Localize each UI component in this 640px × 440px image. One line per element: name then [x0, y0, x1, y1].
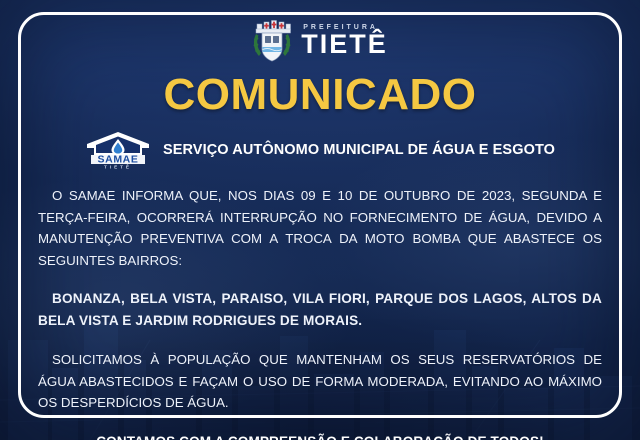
tiete-coat-of-arms-icon [252, 19, 292, 63]
samae-house-waterdrop-logo-icon: SAMAE TIETÊ [85, 131, 151, 169]
city-wordmark: PREFEITURA TIETÊ [301, 24, 388, 59]
city-name: TIETÊ [301, 32, 388, 58]
page-title: COMUNICADO [32, 73, 608, 117]
agency-full-name: SERVIÇO AUTÔNOMO MUNICIPAL DE ÁGUA E ESG… [163, 142, 555, 158]
prefecture-header: PREFEITURA TIETÊ [32, 16, 608, 66]
agency-identity-row: SAMAE TIETÊ SERVIÇO AUTÔNOMO MUNICIPAL D… [32, 131, 608, 169]
closing-message: CONTAMOS COM A COMPREENSÃO E COLABORAÇÃO… [32, 434, 608, 440]
announcement-paragraph-3: SOLICITAMOS À POPULAÇÃO QUE MANTENHAM OS… [32, 349, 608, 414]
announcement-poster: PREFEITURA TIETÊ COMUNICADO SAMAE TIETÊ [0, 0, 640, 440]
announcement-paragraph-1: O SAMAE INFORMA QUE, NOS DIAS 09 E 10 DE… [32, 185, 608, 271]
affected-neighborhoods-list: BONANZA, BELA VISTA, PARAISO, VILA FIORI… [32, 288, 608, 332]
